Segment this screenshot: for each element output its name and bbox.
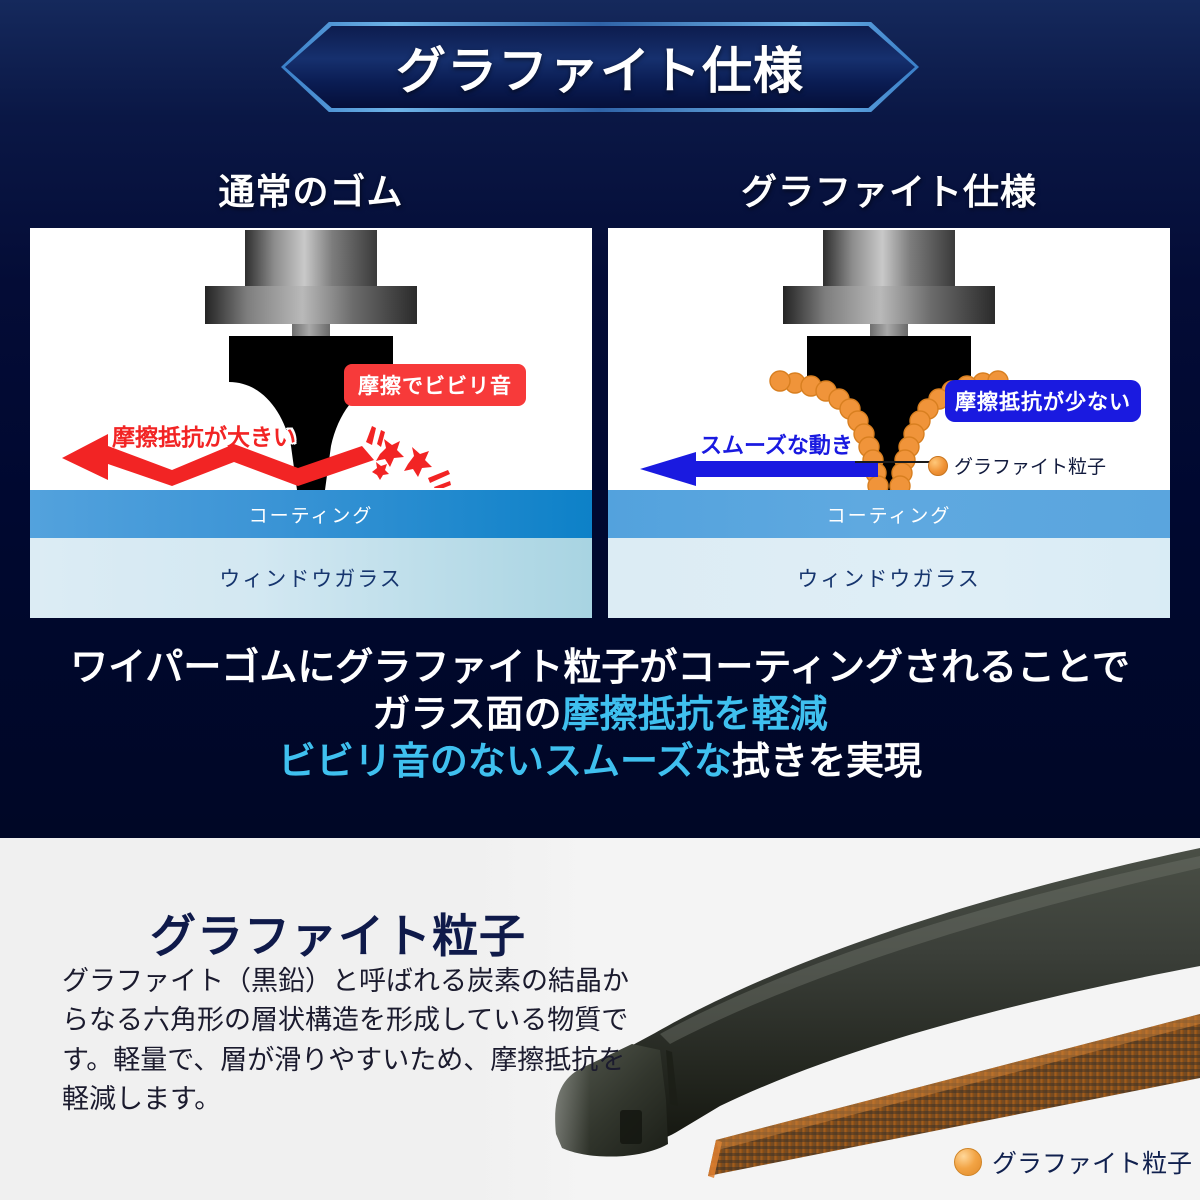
- banner-title: グラファイト仕様: [281, 22, 919, 112]
- summary-line-3: ビビリ音のないスムーズな拭きを実現: [0, 739, 1200, 786]
- summary-line-3-highlight-2: スムーズな: [544, 741, 732, 783]
- graphite-rubber-diagram: コーティング ウィンドウガラス: [608, 228, 1170, 618]
- graphite-section-title: グラファイト粒子: [150, 900, 526, 966]
- holder-flange: [783, 286, 995, 324]
- summary-line-2-pre: ガラス面の: [372, 694, 561, 736]
- infographic-page: グラファイト仕様 通常のゴム グラファイト仕様 コーティング ウィンドウガラス …: [0, 0, 1200, 1200]
- holder-cap: [245, 230, 377, 286]
- summary-line-3-post: 拭きを実現: [732, 741, 922, 783]
- vibration-spark-icon: [350, 408, 460, 488]
- left-panel-title: 通常のゴム: [30, 163, 592, 215]
- smooth-movement-arrow-icon: [640, 452, 878, 486]
- particle-callout-label: グラファイト粒子: [954, 452, 1106, 479]
- particle-callout-leader-line: [855, 461, 933, 463]
- header-banner: グラファイト仕様: [281, 22, 919, 112]
- friction-noise-badge: 摩擦でビビリ音: [344, 364, 526, 406]
- graphite-info-section: グラファイト粒子 グラファイト粒子 グラファイト（黒鉛）と呼ばれる炭素の結晶から…: [0, 838, 1200, 1200]
- high-friction-arrow-icon: [62, 430, 374, 488]
- summary-line-1: ワイパーゴムにグラファイト粒子がコーティングされることで: [0, 645, 1200, 692]
- graphite-section-body: グラファイト（黒鉛）と呼ばれる炭素の結晶からなる六角形の層状構造を形成している物…: [62, 962, 642, 1120]
- particle-callout: グラファイト粒子: [928, 452, 1106, 479]
- low-friction-badge: 摩擦抵抗が少ない: [945, 380, 1141, 422]
- summary-description: ワイパーゴムにグラファイト粒子がコーティングされることで ガラス面の摩擦抵抗を軽…: [0, 645, 1200, 786]
- graphite-particle-icon: [928, 456, 948, 476]
- summary-line-2: ガラス面の摩擦抵抗を軽減: [0, 692, 1200, 739]
- photo-legend: グラファイト粒子: [954, 1144, 1192, 1180]
- graphite-particle-icon: [954, 1148, 982, 1176]
- right-glass-band: ウィンドウガラス: [608, 538, 1170, 618]
- right-coating-band: コーティング: [608, 490, 1170, 538]
- holder-flange: [205, 286, 417, 324]
- summary-line-3-highlight-1: ビビリ音のない: [278, 741, 544, 783]
- left-glass-band: ウィンドウガラス: [30, 538, 592, 618]
- photo-legend-label: グラファイト粒子: [992, 1144, 1192, 1180]
- summary-line-2-highlight: 摩擦抵抗を軽減: [562, 694, 828, 736]
- holder-cap: [823, 230, 955, 286]
- left-coating-band: コーティング: [30, 490, 592, 538]
- right-panel-title: グラファイト仕様: [608, 163, 1170, 215]
- comparison-section: グラファイト仕様 通常のゴム グラファイト仕様 コーティング ウィンドウガラス …: [0, 0, 1200, 838]
